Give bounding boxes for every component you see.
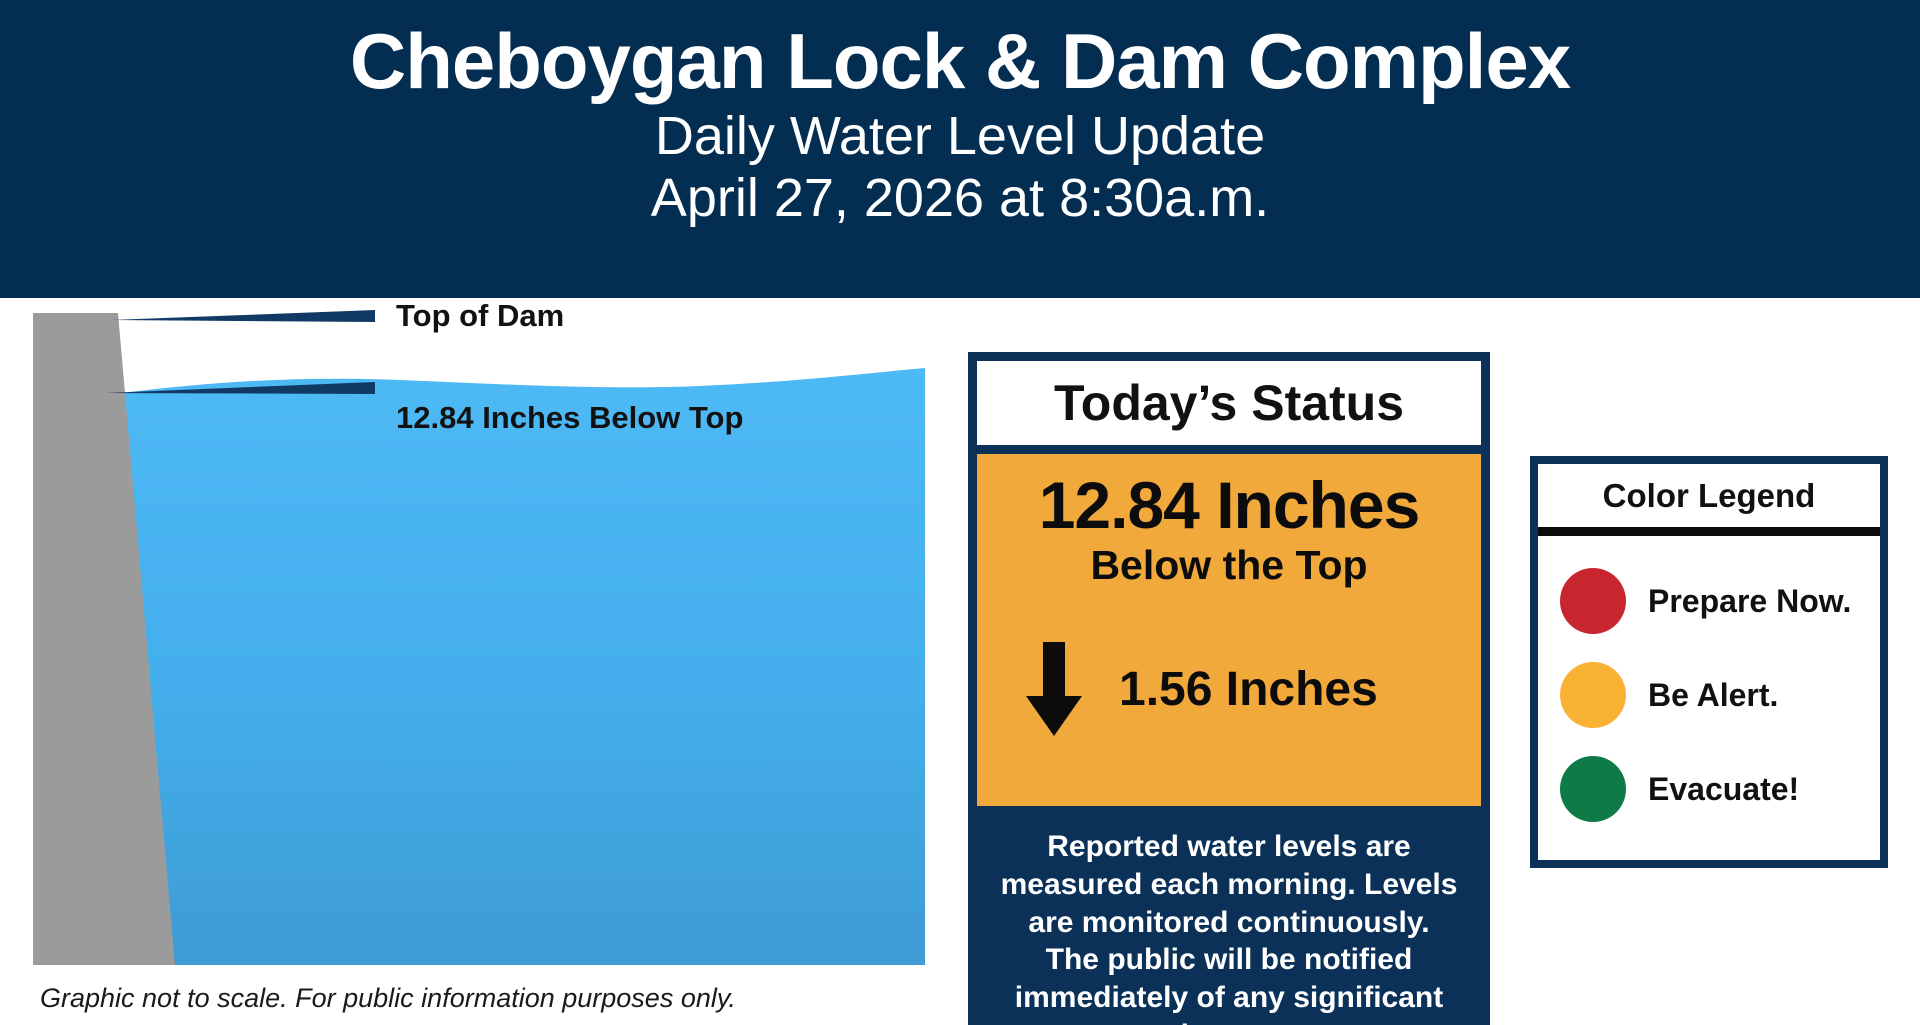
page-subtitle: Daily Water Level Update bbox=[0, 102, 1920, 165]
status-note: Reported water levels are measured each … bbox=[977, 806, 1481, 1025]
legend-item-be-alert: Be Alert. bbox=[1560, 648, 1880, 742]
status-change-value: 1.56 Inches bbox=[1119, 666, 1378, 714]
disclaimer-note: Graphic not to scale. For public informa… bbox=[40, 983, 736, 1014]
amber-circle-icon bbox=[1560, 662, 1626, 728]
top-of-dam-leader-line bbox=[112, 310, 375, 322]
dam-cross-section-diagram: Top of Dam 12.84 Inches Below Top Graphi… bbox=[0, 298, 960, 1025]
report-datetime: April 27, 2026 at 8:30a.m. bbox=[0, 164, 1920, 227]
green-circle-icon bbox=[1560, 756, 1626, 822]
top-of-dam-label: Top of Dam bbox=[396, 298, 564, 334]
status-value-panel: 12.84 Inches Below the Top 1.56 Inches bbox=[977, 454, 1481, 806]
status-change-row: 1.56 Inches bbox=[977, 640, 1481, 740]
status-measurement-caption: Below the Top bbox=[977, 543, 1481, 588]
water-level-label: 12.84 Inches Below Top bbox=[396, 400, 743, 436]
red-circle-icon bbox=[1560, 568, 1626, 634]
legend-item-list: Prepare Now. Be Alert. Evacuate! bbox=[1538, 536, 1880, 836]
legend-item-label: Evacuate! bbox=[1648, 771, 1799, 808]
legend-title-band: Color Legend bbox=[1538, 464, 1880, 536]
legend-title: Color Legend bbox=[1603, 479, 1816, 512]
legend-item-prepare-now: Prepare Now. bbox=[1560, 554, 1880, 648]
legend-item-label: Be Alert. bbox=[1648, 677, 1778, 714]
water-level-infographic: Cheboygan Lock & Dam Complex Daily Water… bbox=[0, 0, 1920, 1025]
status-measurement-value: 12.84 Inches bbox=[977, 470, 1481, 541]
status-title: Today’s Status bbox=[1054, 378, 1404, 428]
legend-item-label: Prepare Now. bbox=[1648, 583, 1851, 620]
water-body bbox=[108, 368, 925, 965]
color-legend-card: Color Legend Prepare Now. Be Alert. Evac… bbox=[1530, 456, 1888, 868]
todays-status-card: Today’s Status 12.84 Inches Below the To… bbox=[968, 352, 1490, 1025]
status-title-band: Today’s Status bbox=[977, 361, 1481, 445]
header-banner: Cheboygan Lock & Dam Complex Daily Water… bbox=[0, 0, 1920, 298]
arrow-down-icon bbox=[1025, 640, 1083, 740]
legend-item-evacuate: Evacuate! bbox=[1560, 742, 1880, 836]
page-title: Cheboygan Lock & Dam Complex bbox=[0, 0, 1920, 102]
